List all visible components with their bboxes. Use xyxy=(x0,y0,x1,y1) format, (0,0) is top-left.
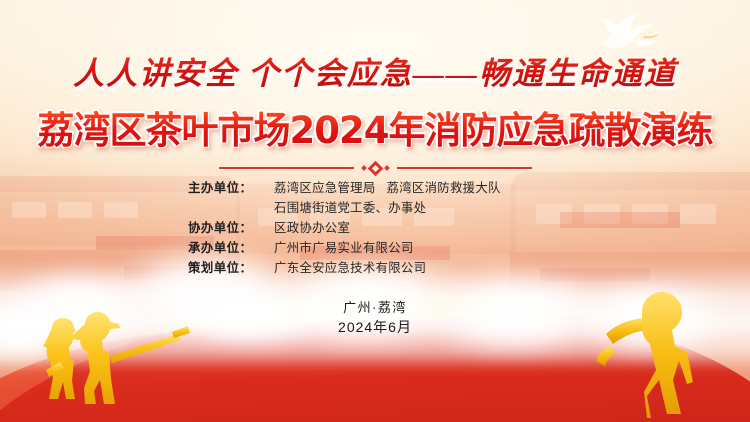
footer-place: 广州·荔湾 xyxy=(0,298,750,317)
organizer-row: 协办单位： 区政协办公室 xyxy=(188,218,562,238)
organizer-label: 承办单位： xyxy=(188,238,274,258)
diamond-ornament-icon xyxy=(362,163,389,174)
organizer-continuation: 石围塘街道党工委、办事处 xyxy=(188,198,562,218)
organizer-row: 策划单位： 广东全安应急技术有限公司 xyxy=(188,258,562,278)
organizer-row: 主办单位： 荔湾区应急管理局荔湾区消防救援大队 xyxy=(188,178,562,198)
poster-subtitle: 人人讲安全 个个会应急——畅通生命通道 xyxy=(0,48,750,93)
organizer-value: 荔湾区应急管理局荔湾区消防救援大队 xyxy=(274,178,501,198)
organizer-label: 策划单位： xyxy=(188,258,274,278)
organizer-value: 区政协办公室 xyxy=(274,218,350,238)
poster-main-title: 荔湾区茶叶市场2024年消防应急疏散演练 xyxy=(0,100,750,154)
poster-canvas: 人人讲安全 个个会应急——畅通生命通道 荔湾区茶叶市场2024年消防应急疏散演练… xyxy=(0,0,750,422)
organizer-label: 主办单位： xyxy=(188,178,274,198)
footer-date: 2024年6月 xyxy=(0,317,750,337)
organizer-value: 广东全安应急技术有限公司 xyxy=(274,258,426,278)
divider-line-right xyxy=(397,167,532,169)
organizers-block: 主办单位： 荔湾区应急管理局荔湾区消防救援大队 石围塘街道党工委、办事处 协办单… xyxy=(0,178,750,278)
poster-footer: 广州·荔湾 2024年6月 xyxy=(0,298,750,337)
divider xyxy=(0,160,750,176)
organizer-label: 协办单位： xyxy=(188,218,274,238)
organizer-value: 广州市广易实业有限公司 xyxy=(274,238,414,258)
organizer-row: 承办单位： 广州市广易实业有限公司 xyxy=(188,238,562,258)
poster-content: 人人讲安全 个个会应急——畅通生命通道 荔湾区茶叶市场2024年消防应急疏散演练… xyxy=(0,0,750,422)
divider-line-left xyxy=(219,167,354,169)
